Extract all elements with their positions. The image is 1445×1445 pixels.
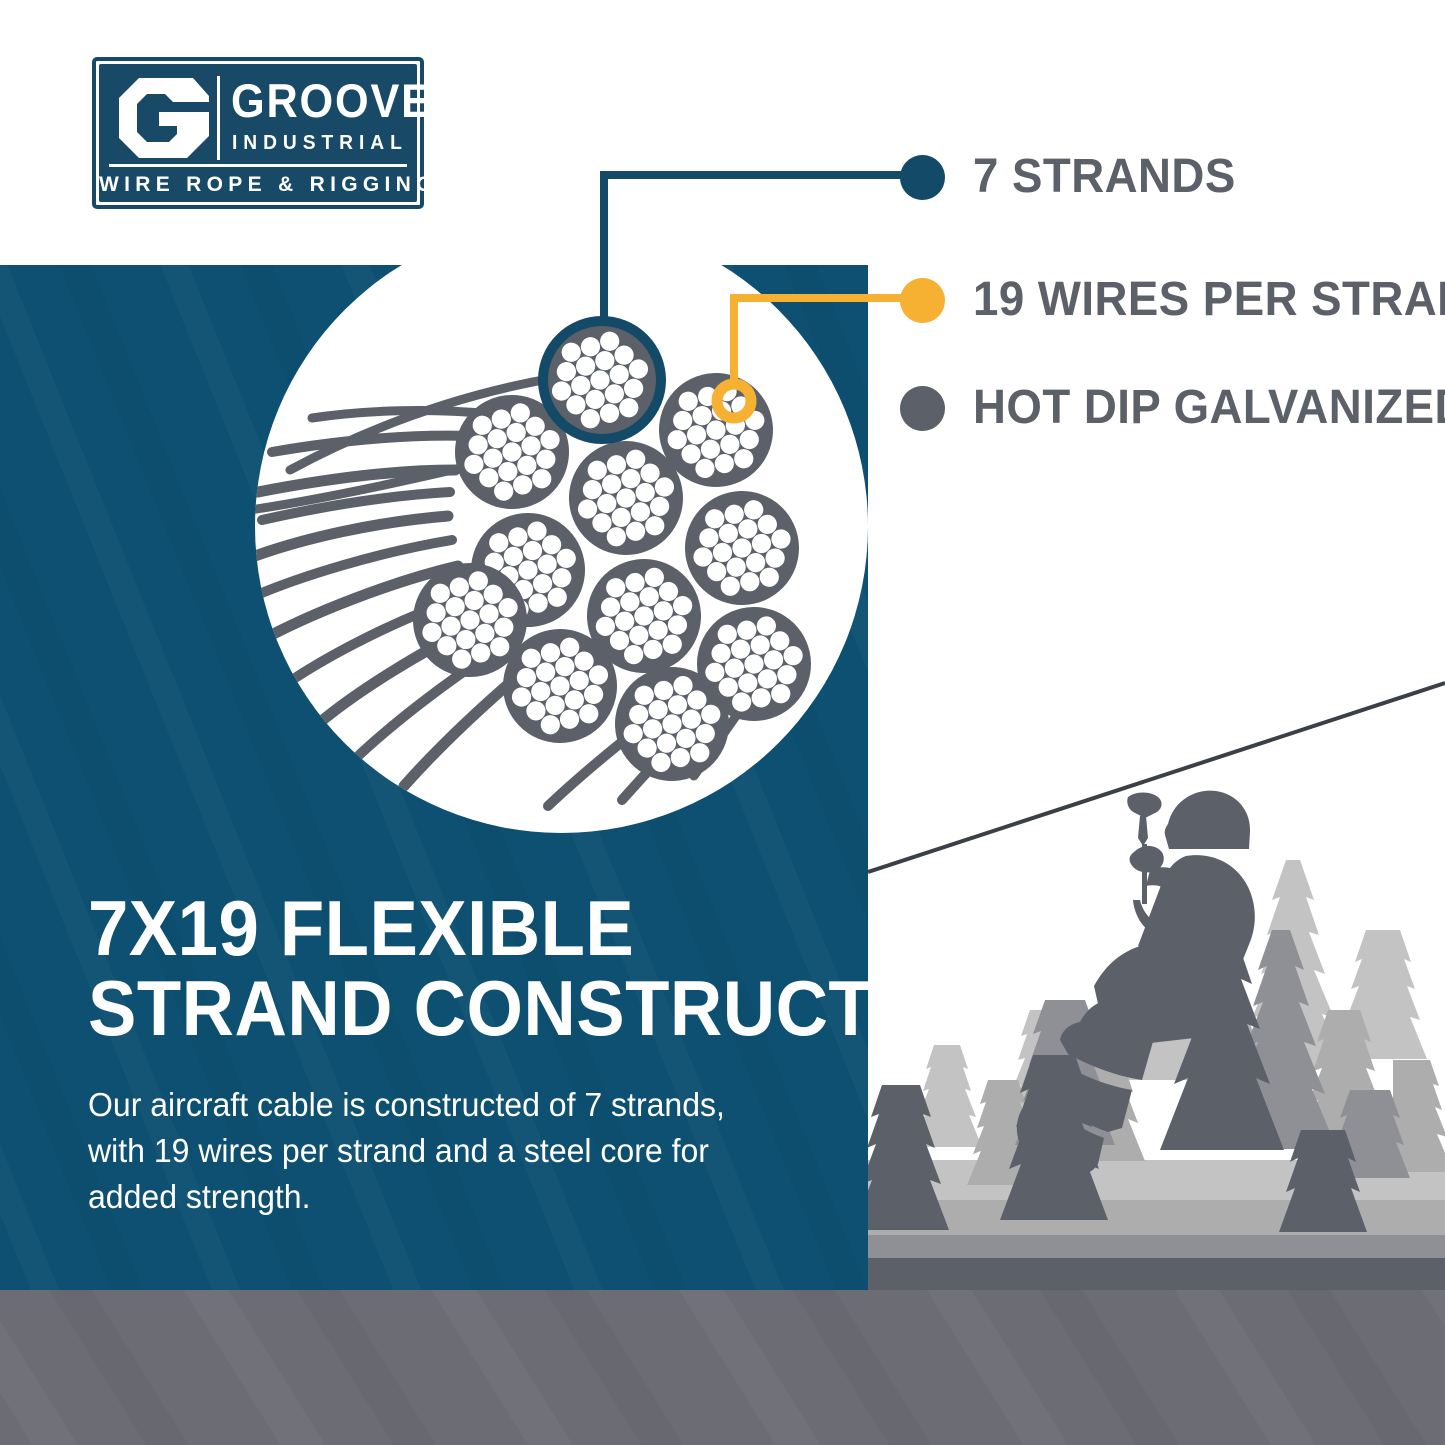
bottom-bar-stripes xyxy=(0,1290,1445,1445)
zipline-scene xyxy=(0,0,1445,1445)
infographic-canvas: GROOVE INDUSTRIAL WIRE ROPE & RIGGING 7 … xyxy=(0,0,1445,1445)
zipline-cable xyxy=(868,683,1445,872)
bottom-accent-bar xyxy=(0,1290,1445,1445)
